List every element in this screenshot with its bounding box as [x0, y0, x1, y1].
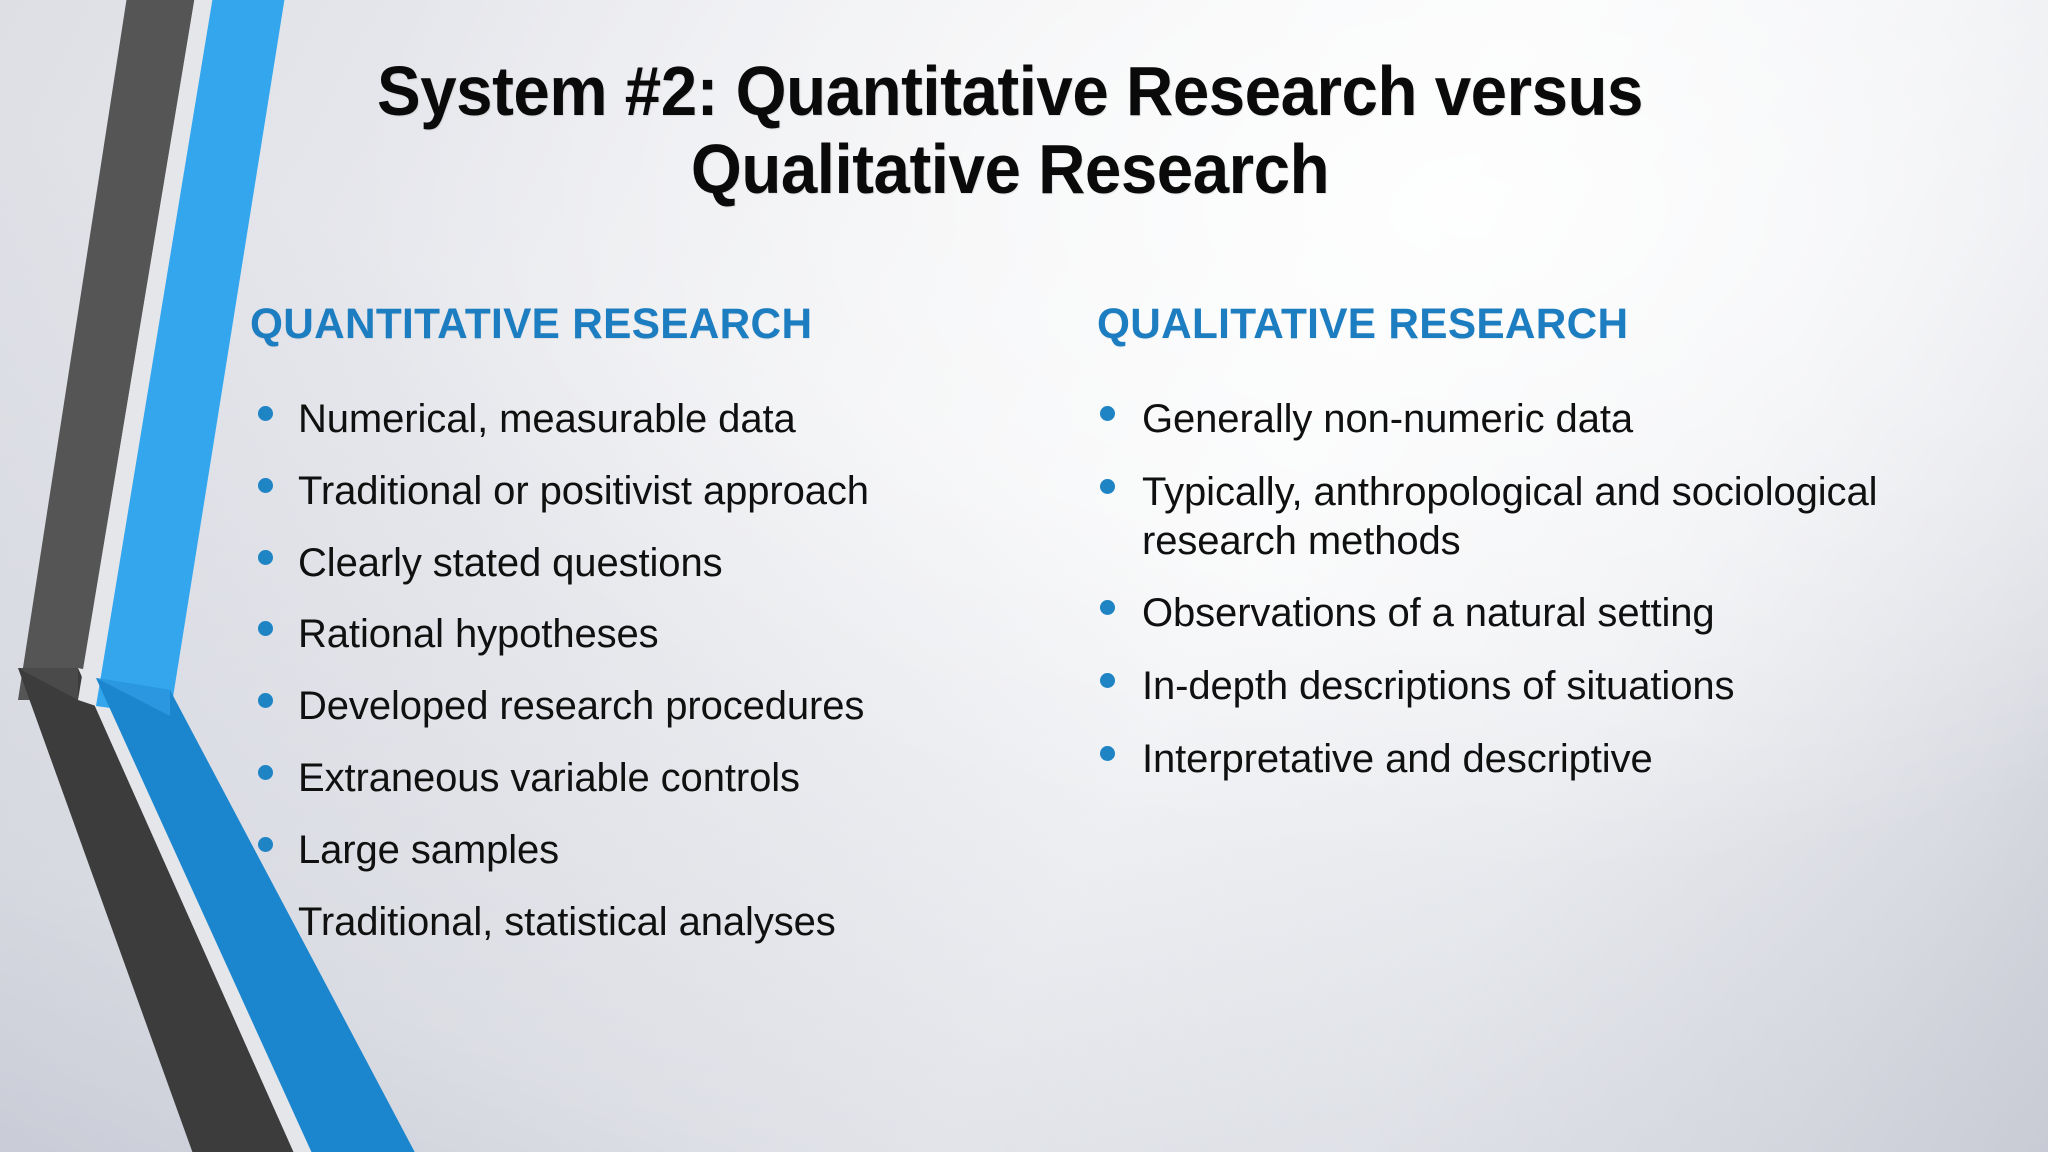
list-item-label: Typically, anthropological and sociologi… — [1142, 470, 1877, 563]
list-item: Extraneous variable controls — [250, 754, 964, 803]
list-item-label: Clearly stated questions — [298, 541, 723, 585]
list-item: Rational hypotheses — [250, 610, 964, 659]
column-qualitative: QUALITATIVE RESEARCH Generally non-numer… — [1024, 300, 2048, 1130]
bullet-dot-icon — [1100, 673, 1115, 688]
list-item-label: Developed research procedures — [298, 684, 864, 728]
list-item: Numerical, measurable data — [250, 395, 964, 444]
slide-title-line-2: Qualitative Research — [262, 130, 1758, 208]
bullet-dot-icon — [1100, 600, 1115, 615]
list-item-label: Observations of a natural setting — [1142, 591, 1715, 635]
list-item: In-depth descriptions of situations — [1094, 662, 1978, 711]
list-item: Developed research procedures — [250, 682, 964, 731]
slide-title: System #2: Quantitative Research versus … — [262, 52, 1758, 209]
content-columns: QUANTITATIVE RESEARCH Numerical, measura… — [0, 300, 2048, 1130]
bullet-dot-icon — [1100, 746, 1115, 761]
slide: System #2: Quantitative Research versus … — [0, 0, 2048, 1152]
bullet-dot-icon — [1100, 406, 1115, 421]
list-item: Clearly stated questions — [250, 539, 964, 588]
column-heading-quantitative: QUANTITATIVE RESEARCH — [250, 300, 953, 349]
bullet-dot-icon — [258, 693, 273, 708]
list-item-label: In-depth descriptions of situations — [1142, 664, 1734, 708]
bullet-dot-icon — [258, 478, 273, 493]
column-quantitative: QUANTITATIVE RESEARCH Numerical, measura… — [0, 300, 1024, 1130]
list-item-label: Interpretative and descriptive — [1142, 737, 1653, 781]
list-item: Observations of a natural setting — [1094, 589, 1978, 638]
bullet-dot-icon — [1100, 479, 1115, 494]
bullet-dot-icon — [258, 837, 273, 852]
list-item-label: Rational hypotheses — [298, 612, 659, 656]
bullet-list-quantitative: Numerical, measurable data Traditional o… — [250, 395, 964, 946]
list-item-label: Large samples — [298, 828, 559, 872]
list-item-label: Extraneous variable controls — [298, 756, 800, 800]
list-item: Typically, anthropological and sociologi… — [1094, 468, 1978, 566]
column-heading-qualitative: QUALITATIVE RESEARCH — [1097, 300, 1965, 349]
list-item: Interpretative and descriptive — [1094, 735, 1978, 784]
slide-title-line-1: System #2: Quantitative Research versus — [262, 52, 1758, 130]
list-item: Generally non-numeric data — [1094, 395, 1978, 444]
list-item: Traditional, statistical analyses — [250, 898, 964, 947]
bullet-dot-icon — [258, 550, 273, 565]
bullet-dot-icon — [258, 621, 273, 636]
bullet-dot-icon — [258, 765, 273, 780]
list-item-label: Numerical, measurable data — [298, 397, 796, 441]
list-item-label: Traditional, statistical analyses — [298, 900, 836, 944]
bullet-dot-icon — [258, 406, 273, 421]
list-item: Large samples — [250, 826, 964, 875]
list-item-label: Generally non-numeric data — [1142, 397, 1633, 441]
list-item: Traditional or positivist approach — [250, 467, 964, 516]
bullet-list-qualitative: Generally non-numeric data Typically, an… — [1094, 395, 1978, 784]
list-item-label: Traditional or positivist approach — [298, 469, 869, 513]
